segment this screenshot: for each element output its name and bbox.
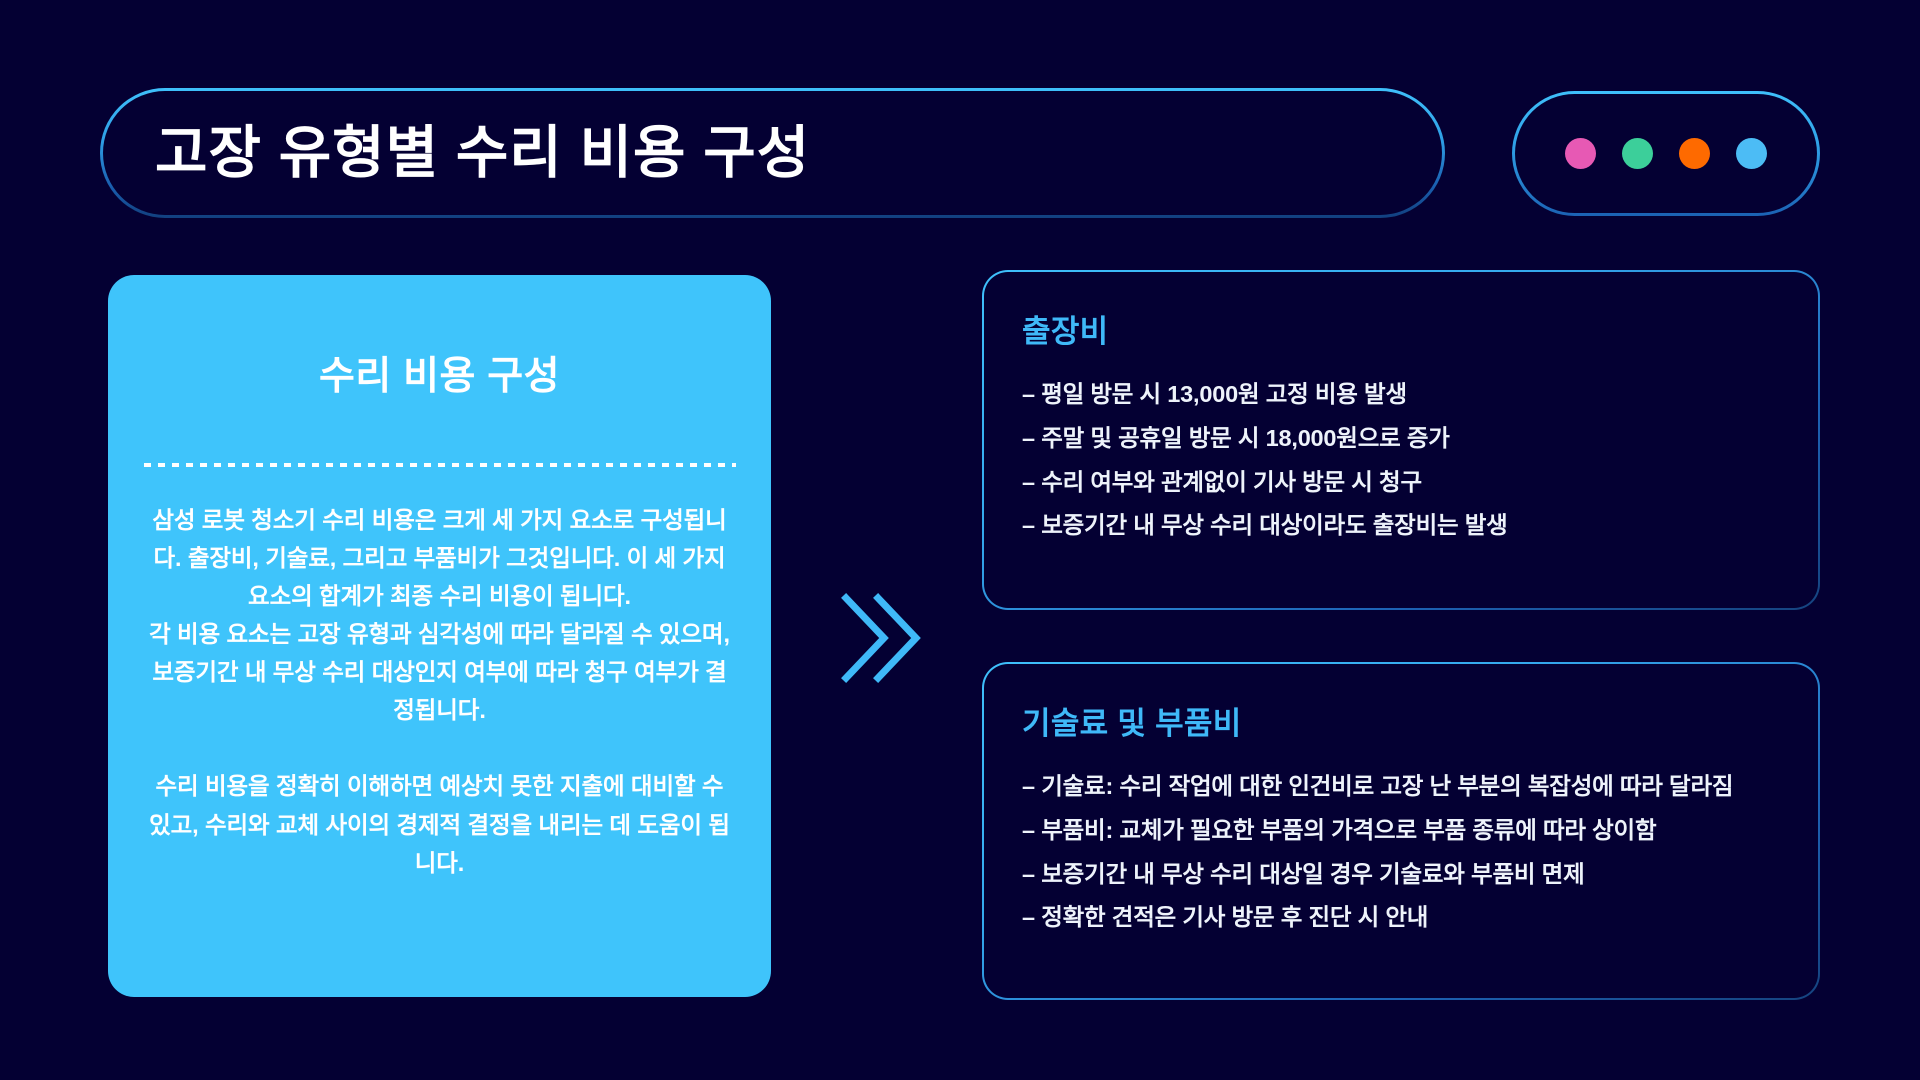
list-item: – 주말 및 공휴일 방문 시 18,000원으로 증가	[1022, 421, 1780, 456]
list-item: – 기술료: 수리 작업에 대한 인건비로 고장 난 부분의 복잡성에 따라 달…	[1022, 769, 1780, 804]
list-item: – 보증기간 내 무상 수리 대상일 경우 기술료와 부품비 면제	[1022, 857, 1780, 892]
detail-card-title: 기술료 및 부품비	[1022, 698, 1780, 743]
detail-card-labor-parts-fee: 기술료 및 부품비 – 기술료: 수리 작업에 대한 인건비로 고장 난 부분의…	[982, 662, 1820, 1000]
status-dots-pill	[1512, 91, 1820, 216]
list-item: – 정확한 견적은 기사 방문 후 진단 시 안내	[1022, 900, 1780, 935]
detail-card-title: 출장비	[1022, 306, 1780, 351]
summary-card-body: 삼성 로봇 청소기 수리 비용은 크게 세 가지 요소로 구성됩니다. 출장비,…	[142, 501, 737, 882]
list-item: – 수리 여부와 관계없이 기사 방문 시 청구	[1022, 465, 1780, 500]
list-item: – 보증기간 내 무상 수리 대상이라도 출장비는 발생	[1022, 508, 1780, 543]
title-pill: 고장 유형별 수리 비용 구성	[100, 88, 1445, 218]
list-item: – 부품비: 교체가 필요한 부품의 가격으로 부품 종류에 따라 상이함	[1022, 813, 1780, 848]
dot-pink-icon	[1565, 138, 1596, 169]
header: 고장 유형별 수리 비용 구성	[100, 88, 1820, 218]
page-title: 고장 유형별 수리 비용 구성	[155, 125, 810, 182]
summary-card-title: 수리 비용 구성	[319, 345, 560, 401]
double-chevron-right-icon	[836, 588, 926, 688]
summary-card: 수리 비용 구성 삼성 로봇 청소기 수리 비용은 크게 세 가지 요소로 구성…	[108, 275, 771, 997]
dotted-divider	[144, 463, 736, 467]
dot-green-icon	[1622, 138, 1653, 169]
dot-orange-icon	[1679, 138, 1710, 169]
dot-blue-icon	[1736, 138, 1767, 169]
list-item: – 평일 방문 시 13,000원 고정 비용 발생	[1022, 377, 1780, 412]
detail-card-travel-fee: 출장비 – 평일 방문 시 13,000원 고정 비용 발생 – 주말 및 공휴…	[982, 270, 1820, 610]
slide-root: 고장 유형별 수리 비용 구성 수리 비용 구성 삼성 로봇 청소기 수리 비용…	[0, 0, 1920, 1080]
bullet-list: – 평일 방문 시 13,000원 고정 비용 발생 – 주말 및 공휴일 방문…	[1022, 377, 1780, 543]
bullet-list: – 기술료: 수리 작업에 대한 인건비로 고장 난 부분의 복잡성에 따라 달…	[1022, 769, 1780, 935]
